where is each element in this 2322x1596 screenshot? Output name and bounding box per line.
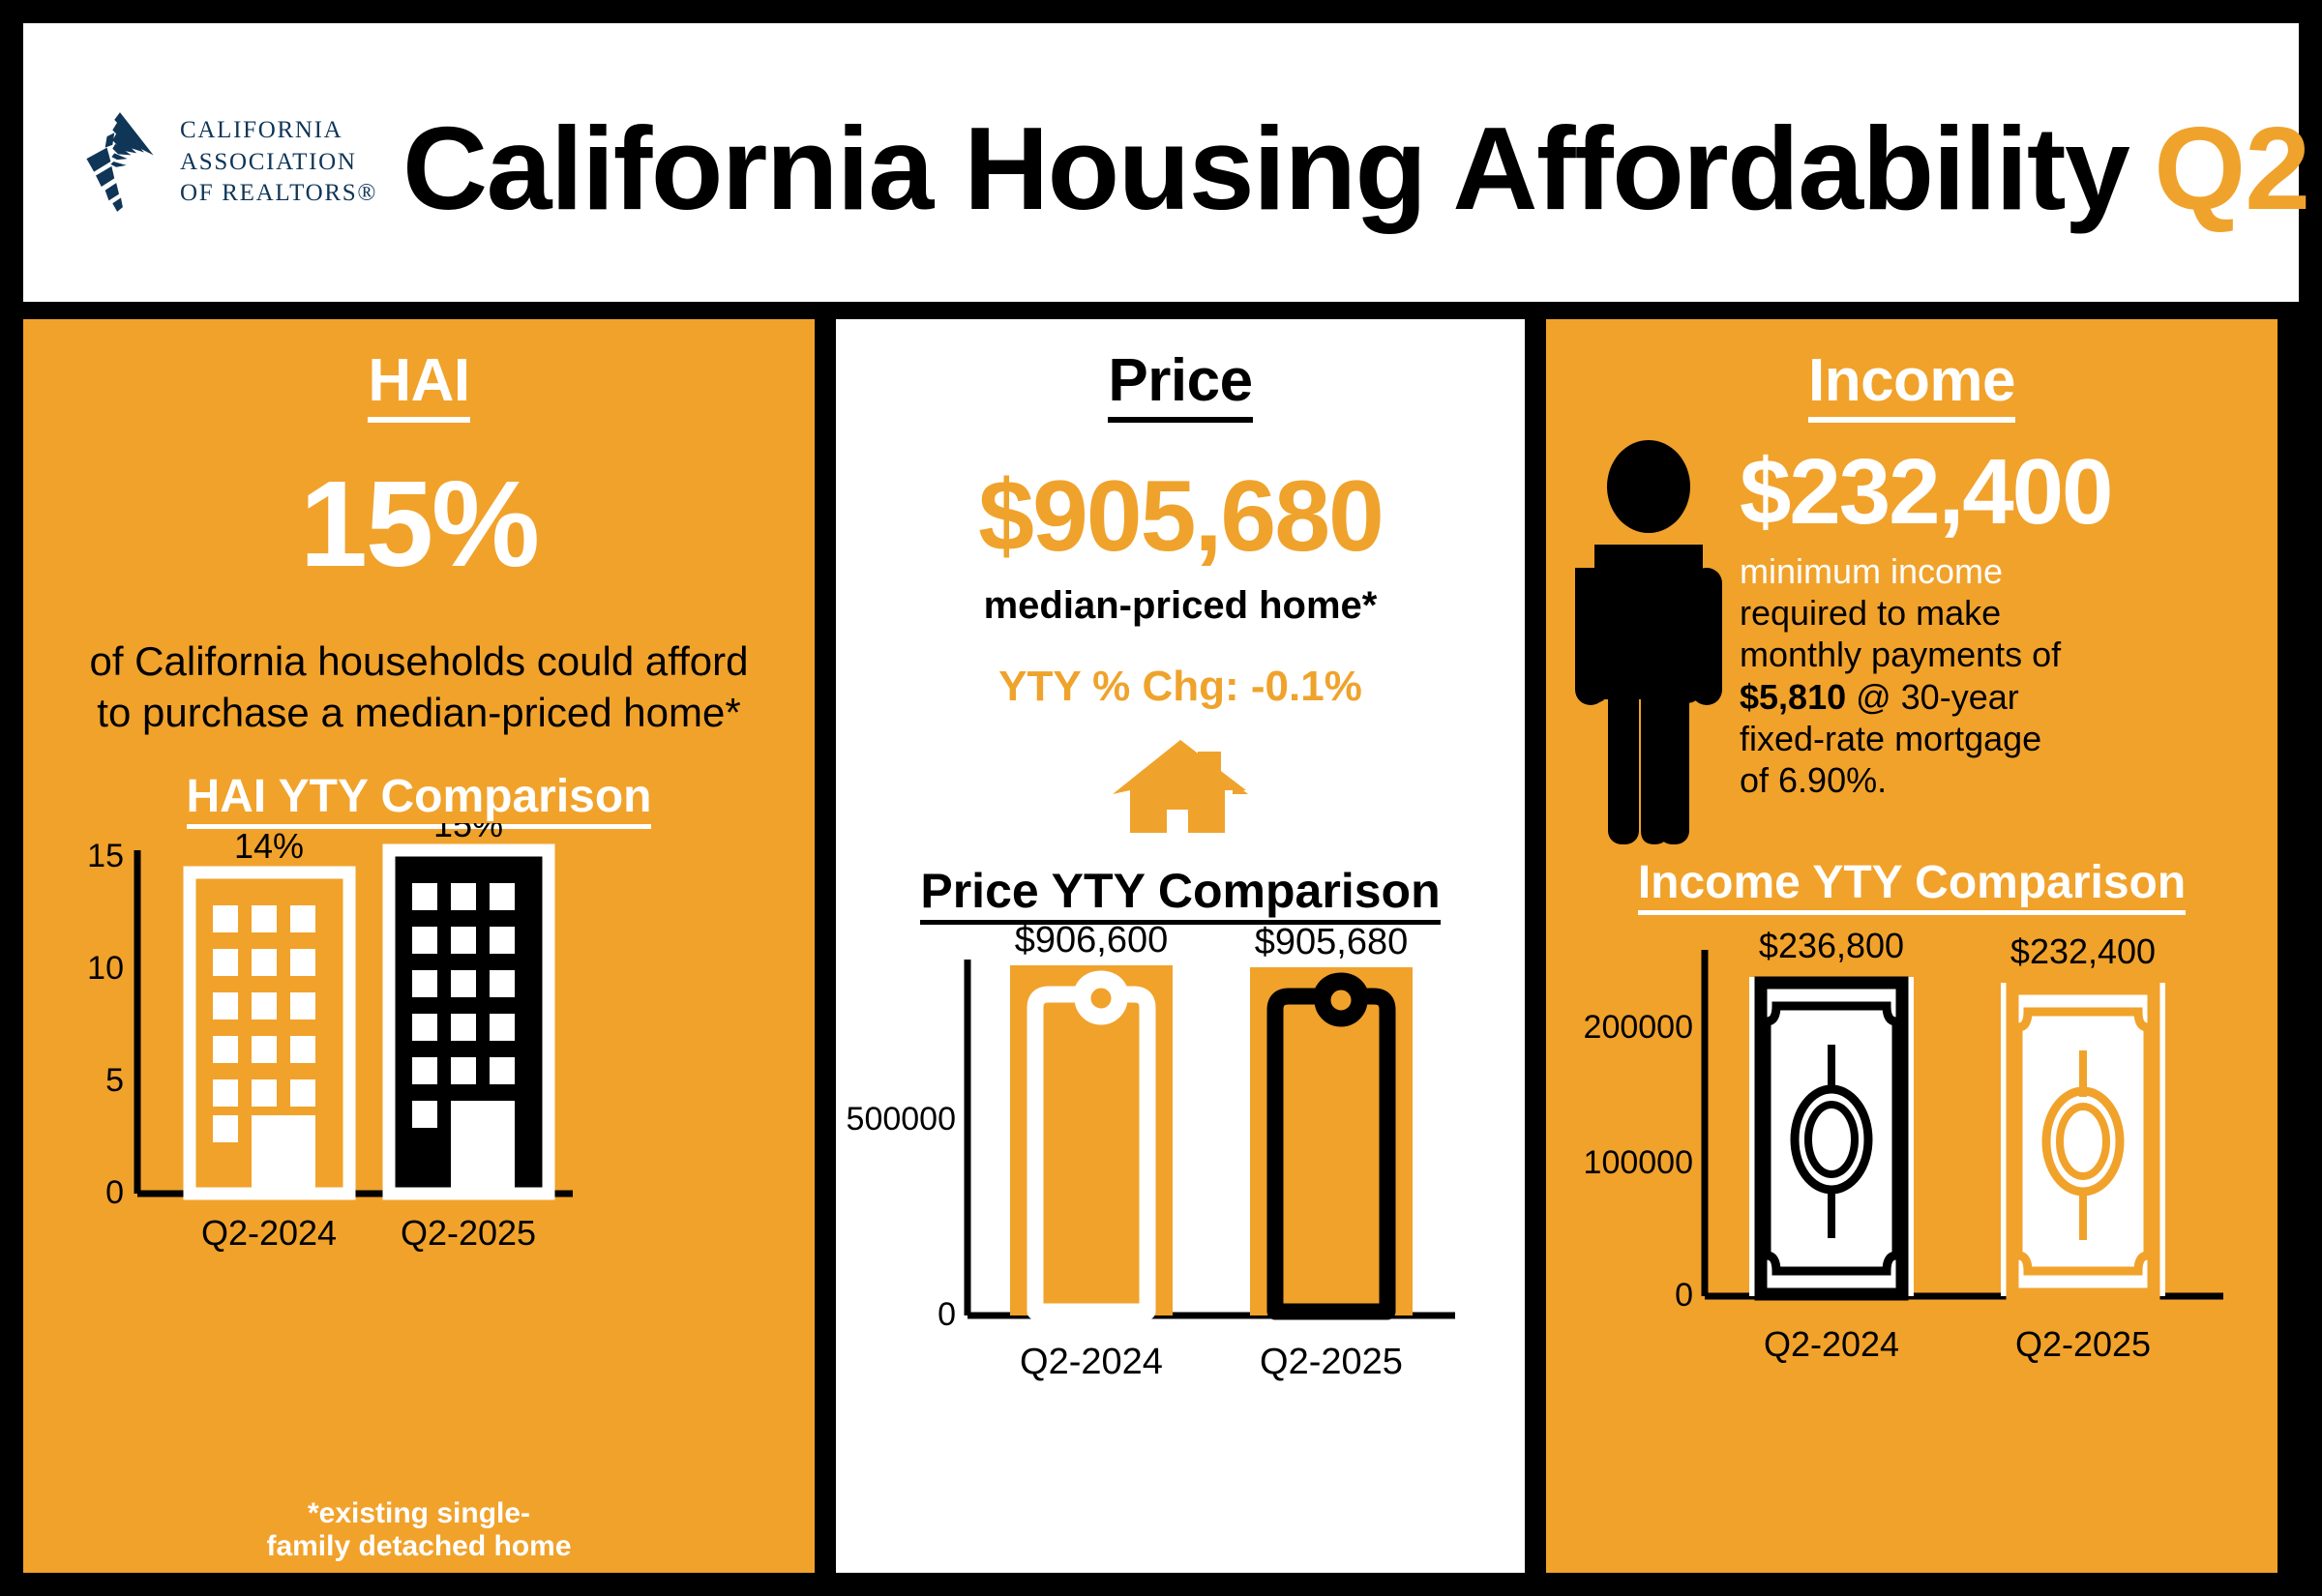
logo-line-1: CALIFORNIA: [180, 115, 377, 147]
price-chart-title-text: Price YTY Comparison: [920, 864, 1440, 925]
hai-chart-svg: 15 10 5 0: [23, 823, 815, 1326]
hai-xtick-2024: Q2-2024: [201, 1213, 337, 1253]
income-ytick-1: 100000: [1584, 1144, 1693, 1181]
hai-headline-value: 15%: [23, 454, 815, 594]
hai-ytick-3: 15: [87, 838, 124, 874]
car-logo-text: CALIFORNIA ASSOCIATION OF REALTORS®: [180, 115, 377, 210]
income-desc-payment: $5,810: [1740, 677, 1846, 717]
price-bar-2025: $905,680: [1250, 922, 1413, 1315]
price-headline-value: $905,680: [836, 459, 1525, 575]
income-bar-2024: $236,800: [1749, 926, 1914, 1296]
infographic-root: CALIFORNIA ASSOCIATION OF REALTORS® Cali…: [0, 0, 2322, 1596]
car-fan-diamond-logo-icon: [74, 110, 166, 215]
income-headline-value: $232,400: [1740, 446, 2252, 539]
hai-chart: 15 10 5 0: [23, 823, 815, 1326]
panel-price-title: Price: [836, 319, 1525, 415]
page-title-quarter: Q2 2025: [2154, 101, 2322, 236]
price-ytick-0: 0: [938, 1296, 956, 1333]
income-bar-fill-2025: [2001, 983, 2165, 1296]
header-bar: CALIFORNIA ASSOCIATION OF REALTORS® Cali…: [23, 23, 2299, 302]
income-chart-title: Income YTY Comparison: [1546, 856, 2277, 909]
price-bar-label-2025: $905,680: [1255, 922, 1409, 962]
logo-line-3: OF REALTORS®: [180, 178, 377, 210]
logo-line-2: ASSOCIATION: [180, 147, 377, 179]
income-chart: 200000 100000 0: [1546, 909, 2277, 1385]
income-bar-fill-2024: [1749, 977, 1914, 1296]
income-chart-svg: 200000 100000 0: [1546, 909, 2277, 1385]
price-yty-change: YTY % Chg: -0.1%: [836, 663, 1525, 711]
price-bar-2024: $906,600: [1010, 920, 1173, 1315]
hai-bar-2025: 15%: [389, 823, 549, 1194]
price-bar-label-2024: $906,600: [1015, 920, 1169, 961]
price-subtitle: median-priced home*: [836, 584, 1525, 628]
panel-hai: HAI 15% of California households could a…: [23, 319, 815, 1573]
income-desc-line-6: of 6.90%.: [1740, 760, 1887, 800]
income-xtick-2025: Q2-2025: [2015, 1324, 2151, 1364]
income-ytick-0: 0: [1675, 1277, 1693, 1314]
hai-ytick-1: 5: [105, 1062, 124, 1099]
income-desc-line-2: required to make: [1740, 593, 2001, 633]
income-desc-line-5: fixed-rate mortgage: [1740, 719, 2041, 758]
hai-footnote-line-2: family detached home: [23, 1530, 815, 1563]
income-ytick-2: 200000: [1584, 1009, 1693, 1046]
hai-footnote: *existing single- family detached home: [23, 1497, 815, 1563]
income-description: minimum income required to make monthly …: [1740, 550, 2252, 801]
panel-hai-title-text: HAI: [368, 347, 469, 423]
hai-footnote-line-1: *existing single-: [23, 1497, 815, 1530]
panel-income-title-text: Income: [1808, 347, 2015, 423]
income-desc-white: minimum income: [1740, 551, 2003, 591]
income-desc-line-4-rest: @ 30-year: [1846, 677, 2019, 717]
panel-price-title-text: Price: [1108, 347, 1252, 423]
hai-chart-title-text: HAI YTY Comparison: [187, 771, 652, 829]
income-desc-line-3: monthly payments of: [1740, 635, 2061, 674]
price-xtick-2025: Q2-2025: [1260, 1342, 1403, 1382]
panel-income-title: Income: [1546, 319, 2277, 415]
price-chart-title: Price YTY Comparison: [836, 863, 1525, 919]
person-icon: [1571, 440, 1726, 846]
price-ytick-1: 500000: [847, 1101, 956, 1138]
price-chart: 500000 0 $906,600: [836, 919, 1525, 1403]
price-xtick-2024: Q2-2024: [1020, 1342, 1163, 1382]
hai-chart-title: HAI YTY Comparison: [23, 770, 815, 823]
income-bar-label-2024: $236,800: [1759, 926, 1904, 965]
hai-bar-label-2024: 14%: [234, 826, 304, 866]
page-title-main: California Housing Affordability: [402, 101, 2128, 236]
income-chart-title-text: Income YTY Comparison: [1638, 857, 2186, 915]
hai-description: of California households could afford to…: [23, 636, 815, 739]
panel-hai-title: HAI: [23, 319, 815, 415]
page-title: California Housing Affordability Q2 2025: [402, 101, 2322, 236]
hai-ytick-2: 10: [87, 950, 124, 987]
hai-ytick-0: 0: [105, 1174, 124, 1211]
price-chart-svg: 500000 0 $906,600: [836, 919, 1525, 1403]
house-icon: [1113, 736, 1248, 837]
panel-income: Income $232,400 minimum income requ: [1546, 319, 2277, 1573]
car-logo: CALIFORNIA ASSOCIATION OF REALTORS®: [74, 110, 377, 215]
hai-xtick-2025: Q2-2025: [401, 1213, 536, 1253]
hai-bar-label-2025: 15%: [433, 823, 503, 844]
panel-row: HAI 15% of California households could a…: [23, 319, 2299, 1573]
income-bar-2025: $232,400: [2001, 931, 2165, 1296]
income-bar-label-2025: $232,400: [2010, 931, 2156, 971]
panel-price: Price $905,680 median-priced home* YTY %…: [836, 319, 1525, 1573]
income-xtick-2024: Q2-2024: [1764, 1324, 1899, 1364]
hai-bar-2024: 14%: [190, 826, 349, 1194]
